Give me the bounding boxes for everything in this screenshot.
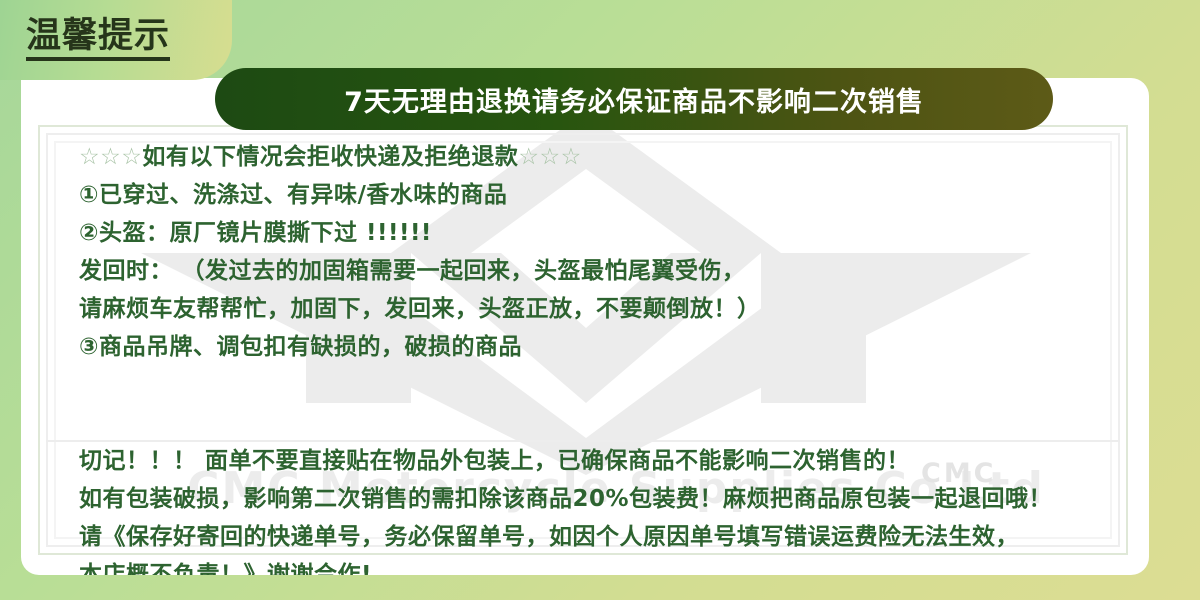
warning-line-3: 请《保存好寄回的快递单号，务必保留单号，如因个人原因单号填写错误运费险无法生效， [79, 518, 1139, 556]
warning-line-1: 切记！！！ 面单不要直接贴在物品外包装上，已确保商品不能影响二次销售的！ [79, 442, 1139, 480]
page-title: 温馨提示 [26, 19, 170, 61]
notice-card: CMC Motorcycle Supplies Co Ltd CMC ☆☆☆如有… [21, 78, 1149, 575]
return-note-line-1: 发回时： （发过去的加固箱需要一起回来，头盔最怕尾翼受伤， [79, 252, 1139, 290]
notice-body: ☆☆☆如有以下情况会拒收快递及拒绝退款☆☆☆ ①已穿过、洗涤过、有异味/香水味的… [79, 138, 1139, 575]
promo-notice-banner: CMC Motorcycle Supplies Co Ltd CMC ☆☆☆如有… [0, 0, 1200, 600]
warning-line-2: 如有包装破损，影响第二次销售的需扣除该商品20%包装费！麻烦把商品原包装一起退回… [79, 480, 1139, 518]
stars-suffix: ☆☆☆ [518, 144, 581, 170]
reject-item-1: ①已穿过、洗涤过、有异味/香水味的商品 [79, 176, 1139, 214]
policy-banner-text: 7天无理由退换请务必保证商品不影响二次销售 [344, 80, 924, 119]
return-note-line-2: 请麻烦车友帮帮忙，加固下，发回来，头盔正放，不要颠倒放！） [79, 290, 1139, 328]
policy-banner-pill: 7天无理由退换请务必保证商品不影响二次销售 [215, 68, 1053, 130]
warning-line-4: 本店概不负责！》谢谢合作! [79, 556, 1139, 575]
rejection-title-line: ☆☆☆如有以下情况会拒收快递及拒绝退款☆☆☆ [79, 138, 1139, 176]
reject-item-2: ②头盔：原厂镜片膜撕下过 !!!!!! [79, 214, 1139, 252]
paragraph-gap [79, 366, 1139, 404]
notice-header-tab: 温馨提示 [0, 0, 232, 80]
reject-item-3: ③商品吊牌、调包扣有缺损的，破损的商品 [79, 328, 1139, 366]
paragraph-gap-2 [79, 404, 1139, 442]
rejection-title-text: 如有以下情况会拒收快递及拒绝退款 [142, 144, 518, 170]
stars-prefix: ☆☆☆ [79, 144, 142, 170]
